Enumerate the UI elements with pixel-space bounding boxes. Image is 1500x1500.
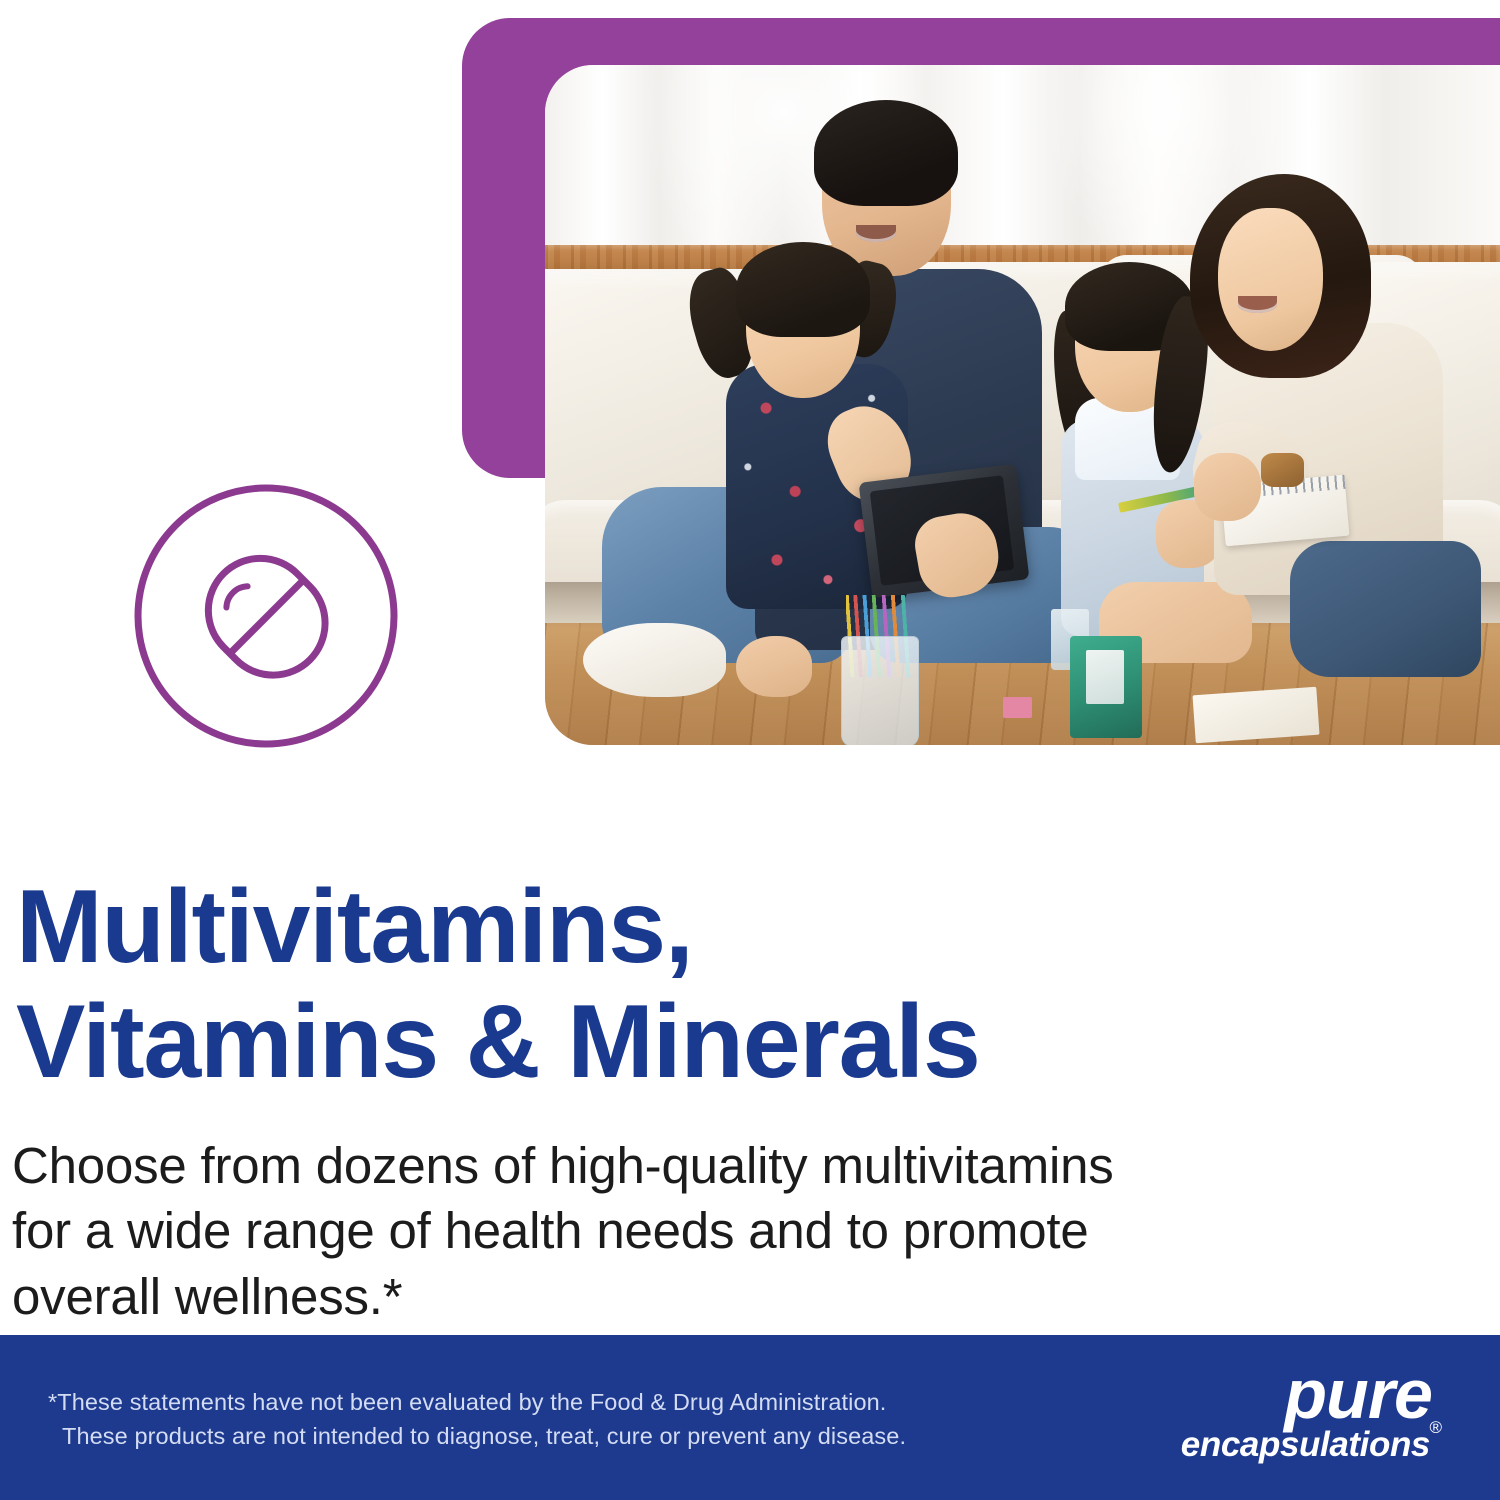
photo-mother-smile [1238, 296, 1276, 312]
footer-bar: *These statements have not been evaluate… [0, 1335, 1500, 1500]
page-description-line-1: Choose from dozens of high-quality multi… [12, 1133, 1342, 1198]
page-description-line-2: for a wide range of health needs and to … [12, 1198, 1342, 1263]
photo-girl1-hair [736, 242, 870, 337]
photo-paper [1193, 686, 1320, 742]
capsule-pill-icon [128, 478, 404, 754]
photo-mother-hand [1194, 453, 1261, 521]
page-title: Multivitamins, Vitamins & Minerals [16, 870, 1196, 1101]
photo-eraser [1003, 697, 1032, 717]
photo-pencil-jar [841, 636, 919, 745]
fda-disclaimer-line-1: *These statements have not been evaluate… [48, 1385, 1028, 1419]
photo-sock [583, 623, 726, 698]
photo-mother-jeans [1290, 541, 1481, 677]
page-description: Choose from dozens of high-quality multi… [12, 1133, 1342, 1329]
brand-logo[interactable]: pure encapsulations ® [1160, 1365, 1440, 1475]
brand-logo-primary: pure [1284, 1359, 1432, 1429]
page-title-line-1: Multivitamins, [16, 870, 1196, 985]
fda-disclaimer-line-2: These products are not intended to diagn… [48, 1419, 1028, 1453]
brand-logo-secondary: encapsulations [1181, 1427, 1430, 1462]
photo-father-hair [814, 100, 957, 205]
fda-disclaimer: *These statements have not been evaluate… [48, 1385, 1028, 1453]
page-description-line-3: overall wellness.* [12, 1264, 1342, 1329]
registered-mark-icon: ® [1429, 1419, 1442, 1436]
photo-bare-foot [736, 636, 812, 697]
family-photo [545, 65, 1500, 745]
photo-wristwatch [1261, 453, 1304, 487]
page-title-line-2: Vitamins & Minerals [16, 985, 1196, 1100]
photo-sharpener-window [1086, 650, 1124, 704]
photo-mother-face [1218, 208, 1323, 351]
